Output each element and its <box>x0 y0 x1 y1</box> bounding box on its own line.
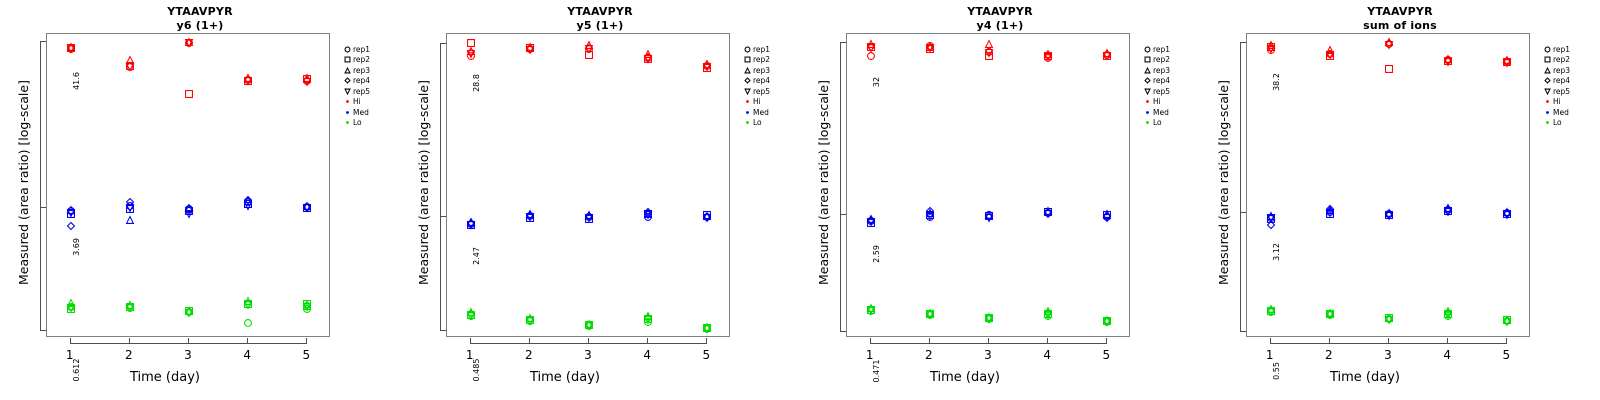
legend-item-lo[interactable]: Lo <box>342 118 370 129</box>
x-tick-label: 5 <box>303 348 311 362</box>
data-point <box>585 44 594 53</box>
data-point <box>703 61 712 70</box>
data-point <box>925 44 934 53</box>
panel-title: YTAAVPYR <box>800 5 1200 18</box>
data-point <box>1385 315 1394 324</box>
data-point <box>525 43 534 52</box>
x-axis-title: Time (day) <box>800 370 1130 385</box>
data-point <box>244 76 253 85</box>
x-tick-mark <box>529 338 530 344</box>
data-point <box>1044 52 1053 61</box>
data-point <box>866 303 875 312</box>
data-point <box>125 203 134 212</box>
data-point <box>585 50 594 59</box>
data-point <box>866 218 875 227</box>
data-point <box>185 307 194 316</box>
data-point <box>185 38 194 47</box>
data-point <box>1444 307 1453 316</box>
legend-item-rep2[interactable]: rep2 <box>1542 55 1570 66</box>
y-tick-mark <box>440 216 446 217</box>
legend-item-lo[interactable]: Lo <box>1142 118 1170 129</box>
data-point <box>525 317 534 326</box>
diamond-icon <box>1142 76 1153 86</box>
x-tick-mark <box>129 338 130 344</box>
data-point <box>1044 210 1053 219</box>
x-axis-title: Time (day) <box>1200 370 1530 385</box>
legend-item-rep2[interactable]: rep2 <box>342 55 370 66</box>
plot-frame <box>846 33 1130 337</box>
data-point <box>1444 55 1453 64</box>
data-point <box>466 311 475 320</box>
x-tick-mark <box>470 338 471 344</box>
data-point <box>1266 43 1275 52</box>
x-tick-mark <box>1047 338 1048 344</box>
data-point <box>585 320 594 329</box>
data-point <box>1266 306 1275 315</box>
legend-item-rep1[interactable]: rep1 <box>1142 44 1170 55</box>
data-point <box>985 210 994 219</box>
square-icon <box>342 55 353 65</box>
y-tick-mark <box>1240 331 1246 332</box>
data-point <box>244 197 253 206</box>
data-point <box>703 212 712 221</box>
triangle-down-icon <box>1542 86 1553 96</box>
legend-item-rep2[interactable]: rep2 <box>742 55 770 66</box>
y-axis-title: Measured (area ratio) [log-scale] <box>1216 80 1231 285</box>
data-point <box>585 213 594 222</box>
data-point <box>1266 308 1275 317</box>
legend-item-rep3[interactable]: rep3 <box>1142 65 1170 76</box>
data-point <box>703 60 712 69</box>
data-point <box>1385 314 1394 323</box>
data-point <box>1503 209 1512 218</box>
data-point <box>1044 206 1053 215</box>
data-point <box>585 214 594 223</box>
data-point <box>525 315 534 324</box>
data-point <box>525 314 534 323</box>
x-tick-label: 5 <box>1503 348 1511 362</box>
data-point <box>244 297 253 306</box>
data-point <box>66 304 75 313</box>
x-tick-mark <box>70 338 71 344</box>
legend-item-rep2[interactable]: rep2 <box>1142 55 1170 66</box>
data-point <box>1103 210 1112 219</box>
legend-item-label: rep2 <box>353 56 370 64</box>
diamond-icon <box>342 76 353 86</box>
dot-icon <box>342 97 353 107</box>
triangle-up-icon <box>742 65 753 75</box>
data-point <box>66 304 75 313</box>
data-point <box>1503 57 1512 66</box>
y-tick-mark <box>1240 212 1246 213</box>
data-point <box>125 197 134 206</box>
data-point <box>644 312 653 321</box>
data-point <box>1044 50 1053 59</box>
y-tick-label: 3.69 <box>71 227 83 267</box>
data-point <box>303 301 312 310</box>
data-point <box>303 77 312 86</box>
triangle-up-icon <box>342 65 353 75</box>
y-tick-mark <box>840 42 846 43</box>
legend-item-label: Hi <box>753 98 761 106</box>
data-point <box>1325 49 1334 58</box>
panel-subtitle: y6 (1+) <box>0 19 400 32</box>
legend-item-label: rep5 <box>753 88 770 96</box>
y-axis-title: Measured (area ratio) [log-scale] <box>16 80 31 285</box>
legend-item-label: Lo <box>753 119 762 127</box>
data-point <box>703 324 712 333</box>
circle-icon <box>342 44 353 54</box>
data-point <box>585 40 594 49</box>
data-point <box>985 48 994 57</box>
data-point <box>644 53 653 62</box>
dot-icon <box>1542 107 1553 117</box>
data-point <box>1044 207 1053 216</box>
data-point <box>244 199 253 208</box>
plot-area <box>447 34 729 336</box>
data-point <box>985 47 994 56</box>
y-tick-mark <box>40 330 46 331</box>
data-point <box>703 63 712 72</box>
diamond-icon <box>742 76 753 86</box>
data-point <box>1503 57 1512 66</box>
data-point <box>585 45 594 54</box>
data-point <box>466 220 475 229</box>
data-point <box>1044 311 1053 320</box>
data-point <box>1103 211 1112 220</box>
data-point <box>66 44 75 53</box>
data-point <box>66 43 75 52</box>
data-point <box>925 44 934 53</box>
legend-item-lo[interactable]: Lo <box>1542 118 1570 129</box>
legend-item-med[interactable]: Med <box>1542 107 1570 118</box>
data-point <box>925 209 934 218</box>
data-point <box>985 314 994 323</box>
data-point <box>1503 58 1512 67</box>
y-tick-label: 41.6 <box>71 61 83 101</box>
legend-item-rep4[interactable]: rep4 <box>342 76 370 87</box>
data-point <box>1103 49 1112 58</box>
data-point <box>303 304 312 313</box>
data-point <box>644 55 653 64</box>
legend-item-rep1[interactable]: rep1 <box>342 44 370 55</box>
x-tick-mark <box>1388 338 1389 344</box>
data-point <box>125 301 134 310</box>
data-point <box>644 53 653 62</box>
plot-area <box>1247 34 1529 336</box>
data-point <box>303 204 312 213</box>
data-point <box>585 211 594 220</box>
legend-item-label: rep3 <box>1153 67 1170 75</box>
data-point <box>985 211 994 220</box>
legend-item-rep5[interactable]: rep5 <box>1142 86 1170 97</box>
y-tick-mark <box>40 41 46 42</box>
data-point <box>244 196 253 205</box>
legend-item-rep5[interactable]: rep5 <box>742 86 770 97</box>
data-point <box>644 210 653 219</box>
data-point <box>1444 205 1453 214</box>
data-point <box>925 42 934 51</box>
data-point <box>925 211 934 220</box>
data-point <box>585 320 594 329</box>
data-point <box>1266 212 1275 221</box>
data-point <box>525 45 534 54</box>
square-icon <box>742 55 753 65</box>
data-point <box>866 305 875 314</box>
dot-icon <box>342 118 353 128</box>
data-point <box>985 313 994 322</box>
data-point <box>985 211 994 220</box>
diamond-icon <box>1542 76 1553 86</box>
legend-item-label: Hi <box>1553 98 1561 106</box>
x-tick-mark <box>870 338 871 344</box>
panel-title: YTAAVPYR <box>400 5 800 18</box>
data-point <box>525 213 534 222</box>
x-tick-mark <box>929 338 930 344</box>
y-axis-line <box>1240 42 1241 331</box>
data-point <box>1385 39 1394 48</box>
data-point <box>925 207 934 216</box>
data-point <box>1325 209 1334 218</box>
data-point <box>866 218 875 227</box>
data-point <box>244 74 253 83</box>
data-point <box>66 208 75 217</box>
legend-item-label: rep3 <box>1553 67 1570 75</box>
data-point <box>125 56 134 65</box>
data-point <box>585 213 594 222</box>
data-point <box>1044 312 1053 321</box>
data-point <box>466 39 475 48</box>
data-point <box>1325 206 1334 215</box>
legend-item-label: rep3 <box>353 67 370 75</box>
data-point <box>866 51 875 60</box>
panel-subtitle: y4 (1+) <box>800 19 1200 32</box>
data-point <box>66 303 75 312</box>
legend-item-rep1[interactable]: rep1 <box>1542 44 1570 55</box>
data-point <box>1385 210 1394 219</box>
dot-icon <box>1142 118 1153 128</box>
x-tick-label: 3 <box>584 348 592 362</box>
data-point <box>1503 58 1512 67</box>
data-point <box>525 213 534 222</box>
data-point <box>1044 51 1053 60</box>
data-point <box>1325 309 1334 318</box>
data-point <box>1266 45 1275 54</box>
x-tick-mark <box>1270 338 1271 344</box>
legend-item-med[interactable]: Med <box>1142 107 1170 118</box>
data-point <box>1444 57 1453 66</box>
x-tick-label: 5 <box>1103 348 1111 362</box>
x-tick-mark <box>188 338 189 344</box>
data-point <box>466 48 475 57</box>
data-point <box>1503 317 1512 326</box>
data-point <box>1385 37 1394 46</box>
chart-panel-2: YTAAVPYRy5 (1+) <box>400 0 800 400</box>
data-point <box>1444 309 1453 318</box>
data-point <box>703 63 712 72</box>
data-point <box>1444 206 1453 215</box>
data-point <box>1044 309 1053 318</box>
legend-item-rep4[interactable]: rep4 <box>742 76 770 87</box>
data-point <box>185 308 194 317</box>
data-point <box>1385 210 1394 219</box>
data-point <box>985 48 994 57</box>
legend-item-hi[interactable]: Hi <box>342 97 370 108</box>
legend-item-hi[interactable]: Hi <box>1142 97 1170 108</box>
data-point <box>303 202 312 211</box>
legend-item-lo[interactable]: Lo <box>742 118 770 129</box>
data-point <box>244 300 253 309</box>
data-point <box>525 211 534 220</box>
y-tick-mark <box>840 331 846 332</box>
legend-item-label: Lo <box>1153 119 1162 127</box>
x-tick-label: 1 <box>466 348 474 362</box>
data-point <box>925 311 934 320</box>
data-point <box>585 212 594 221</box>
data-point <box>185 39 194 48</box>
legend-item-rep4[interactable]: rep4 <box>1142 76 1170 87</box>
data-point <box>303 203 312 212</box>
data-point <box>185 308 194 317</box>
legend-item-rep5[interactable]: rep5 <box>1542 86 1570 97</box>
data-point <box>1385 39 1394 48</box>
data-point <box>303 202 312 211</box>
data-point <box>525 212 534 221</box>
data-point <box>1103 316 1112 325</box>
panel-title: YTAAVPYR <box>1200 5 1600 18</box>
data-point <box>1325 309 1334 318</box>
x-tick-mark <box>988 338 989 344</box>
data-point <box>866 216 875 225</box>
data-point <box>185 209 194 218</box>
data-point <box>466 219 475 228</box>
data-point <box>1503 316 1512 325</box>
data-point <box>466 312 475 321</box>
x-tick-label: 3 <box>984 348 992 362</box>
chart-panel-3: YTAAVPYRy4 (1+) <box>800 0 1200 400</box>
y-axis-line <box>840 42 841 331</box>
data-point <box>644 54 653 63</box>
circle-icon <box>1142 44 1153 54</box>
data-point <box>303 74 312 83</box>
y-tick-label: 3.12 <box>1271 232 1283 272</box>
legend-item-med[interactable]: Med <box>342 107 370 118</box>
data-point <box>125 202 134 211</box>
data-point <box>1503 317 1512 326</box>
x-tick-label: 2 <box>925 348 933 362</box>
data-point <box>1103 317 1112 326</box>
legend-item-rep3[interactable]: rep3 <box>342 65 370 76</box>
y-tick-mark <box>440 330 446 331</box>
data-point <box>185 37 194 46</box>
dot-icon <box>342 107 353 117</box>
square-icon <box>1142 55 1153 65</box>
data-point <box>644 49 653 58</box>
data-point <box>1444 203 1453 212</box>
data-point <box>303 75 312 84</box>
data-point <box>1044 209 1053 218</box>
data-point <box>866 39 875 48</box>
data-point <box>66 45 75 54</box>
data-point <box>1103 211 1112 220</box>
data-point <box>1325 311 1334 320</box>
x-tick-label: 2 <box>125 348 133 362</box>
legend-item-rep3[interactable]: rep3 <box>1542 65 1570 76</box>
x-tick-mark <box>1106 338 1107 344</box>
y-tick-mark <box>440 43 446 44</box>
data-point <box>244 198 253 207</box>
data-point <box>66 298 75 307</box>
data-point <box>644 213 653 222</box>
data-point <box>703 323 712 332</box>
legend-item-med[interactable]: Med <box>742 107 770 118</box>
y-axis-line <box>40 41 41 329</box>
data-point <box>1103 51 1112 60</box>
data-point <box>1103 50 1112 59</box>
dot-icon <box>1542 97 1553 107</box>
legend-item-label: rep2 <box>753 56 770 64</box>
data-point <box>703 213 712 222</box>
data-point <box>1385 211 1394 220</box>
y-tick-mark <box>40 207 46 208</box>
data-point <box>1503 209 1512 218</box>
data-point <box>1266 45 1275 54</box>
legend-item-rep1[interactable]: rep1 <box>742 44 770 55</box>
data-point <box>66 44 75 53</box>
data-point <box>1044 208 1053 217</box>
data-point <box>703 322 712 331</box>
legend-item-hi[interactable]: Hi <box>1542 97 1570 108</box>
legend-item-rep3[interactable]: rep3 <box>742 65 770 76</box>
data-point <box>185 206 194 215</box>
data-point <box>185 205 194 214</box>
data-point <box>66 207 75 216</box>
x-tick-mark <box>1447 338 1448 344</box>
data-point <box>1385 65 1394 74</box>
data-point <box>1325 310 1334 319</box>
plot-area <box>47 34 329 336</box>
data-point <box>1103 212 1112 221</box>
chart-panel-1: YTAAVPYRy6 (1+) <box>0 0 400 400</box>
data-point <box>185 39 194 48</box>
data-point <box>925 211 934 220</box>
data-point <box>644 210 653 219</box>
plot-frame <box>1246 33 1530 337</box>
legend-item-rep4[interactable]: rep4 <box>1542 76 1570 87</box>
data-point <box>925 309 934 318</box>
legend: rep1 rep2 rep3 rep4 rep5 Hi Med Lo <box>342 44 370 128</box>
data-point <box>1044 306 1053 315</box>
data-point <box>66 43 75 52</box>
data-point <box>1385 40 1394 49</box>
data-point <box>525 315 534 324</box>
dot-icon <box>742 118 753 128</box>
dot-icon <box>1542 118 1553 128</box>
data-point <box>925 310 934 319</box>
data-point <box>925 212 934 221</box>
data-point <box>525 316 534 325</box>
legend-item-hi[interactable]: Hi <box>742 97 770 108</box>
data-point <box>925 42 934 51</box>
data-point <box>1385 313 1394 322</box>
legend-item-label: rep5 <box>1153 88 1170 96</box>
data-point <box>525 44 534 53</box>
data-point <box>985 40 994 49</box>
data-point <box>644 208 653 217</box>
legend-item-rep5[interactable]: rep5 <box>342 86 370 97</box>
data-point <box>703 325 712 334</box>
data-point <box>703 211 712 220</box>
